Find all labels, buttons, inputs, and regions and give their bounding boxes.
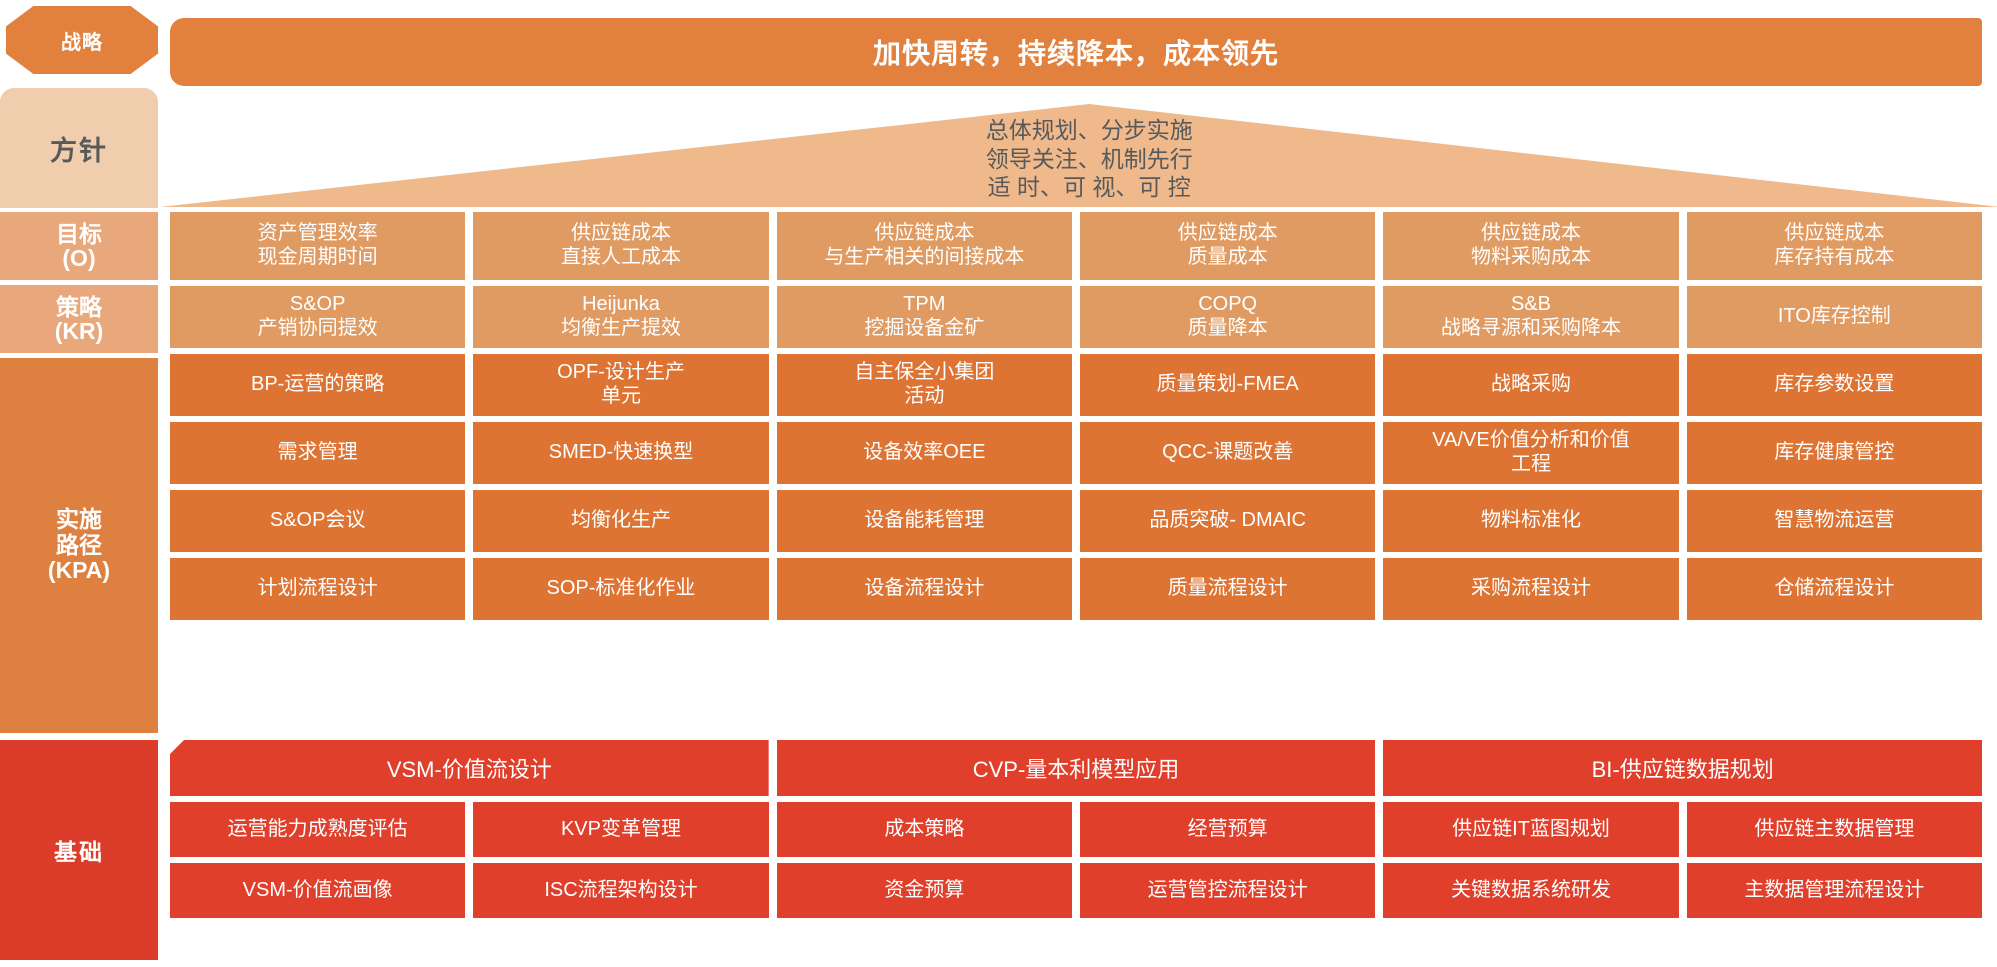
kpa-row: S&OP会议 均衡化生产 设备能耗管理 品质突破- DMAIC 物料标准化 智慧…: [170, 490, 1982, 552]
key-result-cell[interactable]: Heijunka 均衡生产提效: [473, 286, 768, 348]
kpa-cell[interactable]: OPF-设计生产 单元: [473, 354, 768, 416]
foundation-row: 运营能力成熟度评估 KVP变革管理 成本策略 经营预算 供应链IT蓝图规划 供应…: [170, 802, 1982, 857]
rail-label-objective: 目标 (O): [0, 212, 158, 280]
rail-label-foundation: 基础: [0, 740, 158, 960]
rail-label-key-result: 策略 (KR): [0, 285, 158, 353]
foundation-header-cell[interactable]: CVP-量本利模型应用: [777, 740, 1376, 796]
rail-strategy-text: 战略: [61, 26, 103, 55]
objective-cell[interactable]: 资产管理效率 现金周期时间: [170, 212, 465, 280]
key-result-cell[interactable]: S&OP 产销协同提效: [170, 286, 465, 348]
foundation-cell[interactable]: 供应链IT蓝图规划: [1383, 802, 1678, 857]
kpa-cell[interactable]: 设备能耗管理: [777, 490, 1072, 552]
foundation-cell[interactable]: VSM-价值流画像: [170, 863, 465, 918]
key-results-row: S&OP 产销协同提效 Heijunka 均衡生产提效 TPM 挖掘设备金矿 C…: [170, 286, 1982, 348]
rail-label-kpa: 实施 路径 (KPA): [0, 358, 158, 733]
kpa-row: BP-运营的策略 OPF-设计生产 单元 自主保全小集团 活动 质量策划-FME…: [170, 354, 1982, 416]
kpa-cell[interactable]: 均衡化生产: [473, 490, 768, 552]
policy-triangle-band: 总体规划、分步实施 领导关注、机制先行 适 时、可 视、可 控: [160, 104, 1997, 207]
strategy-banner-title: 加快周转，持续降本，成本领先: [873, 32, 1279, 72]
kpa-cell[interactable]: 质量策划-FMEA: [1080, 354, 1375, 416]
objective-cell[interactable]: 供应链成本 质量成本: [1080, 212, 1375, 280]
foundation-cell[interactable]: 关键数据系统研发: [1383, 863, 1678, 918]
kpa-row: 计划流程设计 SOP-标准化作业 设备流程设计 质量流程设计 采购流程设计 仓储…: [170, 558, 1982, 620]
foundation-cell[interactable]: 运营能力成熟度评估: [170, 802, 465, 857]
kpa-row: 需求管理 SMED-快速换型 设备效率OEE QCC-课题改善 VA/VE价值分…: [170, 422, 1982, 484]
objectives-row: 资产管理效率 现金周期时间 供应链成本 直接人工成本 供应链成本 与生产相关的间…: [170, 212, 1982, 280]
kpa-cell[interactable]: 自主保全小集团 活动: [777, 354, 1072, 416]
kpa-cell[interactable]: BP-运营的策略: [170, 354, 465, 416]
objective-cell[interactable]: 供应链成本 库存持有成本: [1687, 212, 1982, 280]
key-result-cell[interactable]: ITO库存控制: [1687, 286, 1982, 348]
kpa-cell[interactable]: 库存参数设置: [1687, 354, 1982, 416]
rail-label-strategy: 战略: [6, 6, 158, 74]
foundation-cell[interactable]: 经营预算: [1080, 802, 1375, 857]
kpa-cell[interactable]: 需求管理: [170, 422, 465, 484]
strategy-house-diagram: 战略 方针 目标 (O) 策略 (KR) 实施 路径 (KPA) 基础 加快周转…: [0, 0, 1997, 967]
foundation-header-cell[interactable]: VSM-价值流设计: [170, 740, 769, 796]
key-result-cell[interactable]: COPQ 质量降本: [1080, 286, 1375, 348]
kpa-cell[interactable]: 仓储流程设计: [1687, 558, 1982, 620]
kpa-cell[interactable]: QCC-课题改善: [1080, 422, 1375, 484]
kpa-cell[interactable]: 库存健康管控: [1687, 422, 1982, 484]
objective-cell[interactable]: 供应链成本 与生产相关的间接成本: [777, 212, 1072, 280]
rail-kpa-text-line3: (KPA): [48, 558, 110, 584]
rail-label-policy: 方针: [0, 88, 158, 208]
key-result-cell[interactable]: TPM 挖掘设备金矿: [777, 286, 1072, 348]
rail-kpa-text-line2: 路径: [56, 533, 102, 559]
kpa-cell[interactable]: 智慧物流运营: [1687, 490, 1982, 552]
kpa-cell[interactable]: VA/VE价值分析和价值 工程: [1383, 422, 1678, 484]
kpa-cell[interactable]: 设备流程设计: [777, 558, 1072, 620]
foundation-cell[interactable]: 成本策略: [777, 802, 1072, 857]
foundation-cell[interactable]: 运营管控流程设计: [1080, 863, 1375, 918]
rail-policy-text: 方针: [50, 129, 108, 168]
foundation-header-cell[interactable]: BI-供应链数据规划: [1383, 740, 1982, 796]
kpa-cell[interactable]: 计划流程设计: [170, 558, 465, 620]
foundation-cell[interactable]: 资金预算: [777, 863, 1072, 918]
kpa-cell[interactable]: 设备效率OEE: [777, 422, 1072, 484]
foundation-cell[interactable]: 供应链主数据管理: [1687, 802, 1982, 857]
kpa-cell[interactable]: SMED-快速换型: [473, 422, 768, 484]
foundation-area: VSM-价值流设计 CVP-量本利模型应用 BI-供应链数据规划 运营能力成熟度…: [170, 740, 1982, 924]
foundation-cell[interactable]: 主数据管理流程设计: [1687, 863, 1982, 918]
kpa-cell[interactable]: 物料标准化: [1383, 490, 1678, 552]
policy-triangle-text: 总体规划、分步实施 领导关注、机制先行 适 时、可 视、可 控: [986, 116, 1193, 202]
kpa-cell[interactable]: 质量流程设计: [1080, 558, 1375, 620]
objective-cell[interactable]: 供应链成本 直接人工成本: [473, 212, 768, 280]
rail-kr-text-line2: (KR): [55, 319, 104, 343]
kpa-cell[interactable]: S&OP会议: [170, 490, 465, 552]
foundation-row: VSM-价值流画像 ISC流程架构设计 资金预算 运营管控流程设计 关键数据系统…: [170, 863, 1982, 918]
rail-objective-text-line1: 目标: [56, 222, 102, 246]
rail-kpa-text-line1: 实施: [56, 507, 102, 533]
foundation-header-row: VSM-价值流设计 CVP-量本利模型应用 BI-供应链数据规划: [170, 740, 1982, 796]
rail-objective-text-line2: (O): [62, 246, 95, 270]
kpa-cell[interactable]: 采购流程设计: [1383, 558, 1678, 620]
kpa-cell[interactable]: SOP-标准化作业: [473, 558, 768, 620]
strategy-banner: 加快周转，持续降本，成本领先: [170, 18, 1982, 86]
key-result-cell[interactable]: S&B 战略寻源和采购降本: [1383, 286, 1678, 348]
kpa-cell[interactable]: 战略采购: [1383, 354, 1678, 416]
rail-kr-text-line1: 策略: [56, 295, 102, 319]
rail-foundation-text: 基础: [54, 833, 104, 867]
objective-cell[interactable]: 供应链成本 物料采购成本: [1383, 212, 1678, 280]
foundation-cell[interactable]: ISC流程架构设计: [473, 863, 768, 918]
matrix-grid: 资产管理效率 现金周期时间 供应链成本 直接人工成本 供应链成本 与生产相关的间…: [170, 212, 1982, 626]
kpa-cell[interactable]: 品质突破- DMAIC: [1080, 490, 1375, 552]
foundation-cell[interactable]: KVP变革管理: [473, 802, 768, 857]
